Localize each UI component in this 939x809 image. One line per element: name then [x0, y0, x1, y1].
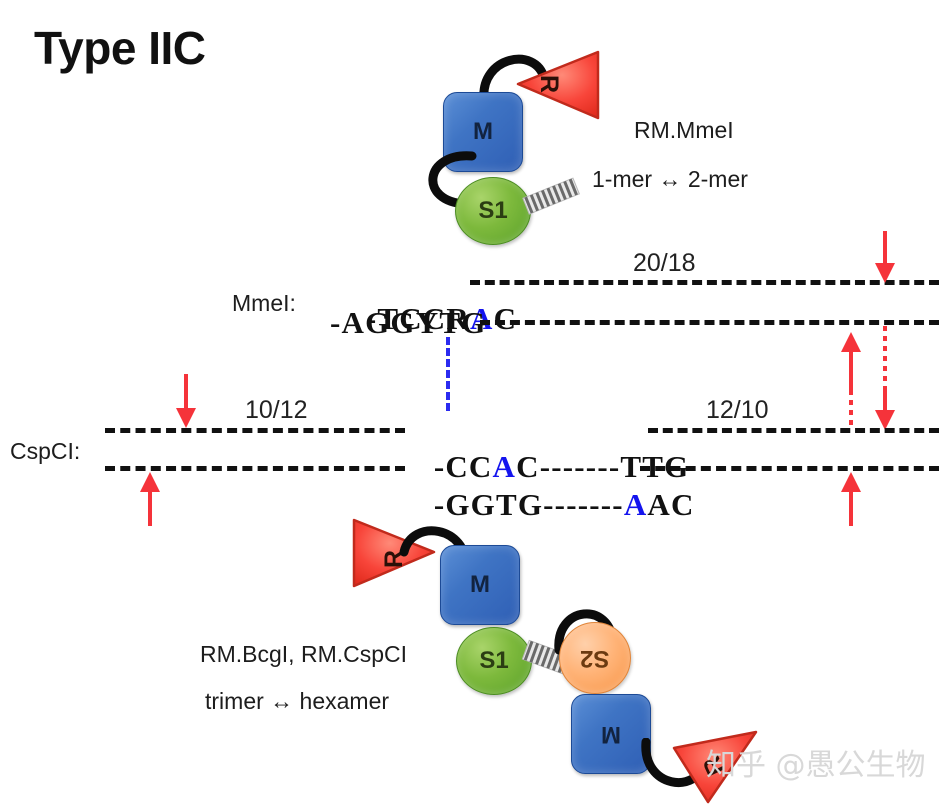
- bottom-complex-stoichiometry: trimer ↔ hexamer: [205, 688, 389, 715]
- cspci-bottom-backbone-right: [640, 466, 939, 471]
- bottom-complex-name: RM.BcgI, RM.CspCI: [200, 641, 407, 668]
- mmei-top-backbone: [470, 280, 939, 285]
- cut-arrow-cspci-left-bottom: [137, 470, 163, 526]
- mmei-bottom-strand: -AGGYTG: [330, 305, 487, 341]
- diagram-canvas: Type IIC R M S1: [0, 0, 939, 809]
- watermark: 知乎 @愚公生物: [706, 740, 926, 784]
- subunit-s1-bottom-label: S1: [479, 647, 508, 675]
- subunit-m-bottom-upper: M: [440, 545, 520, 625]
- subunit-m-bottom-lower-label: M: [601, 720, 621, 748]
- mmei-bottom-backbone: [480, 320, 939, 325]
- cspci-bottom-strand-blue-base: A: [624, 487, 648, 522]
- subunit-s2-bottom-label: S2: [580, 644, 609, 672]
- mmei-top-strand-post: C: [494, 301, 518, 336]
- subunit-m-bottom-upper-label: M: [470, 571, 490, 599]
- page-title: Type IIC: [34, 21, 206, 75]
- cspci-bottom-strand-post: AC: [647, 487, 694, 522]
- cspci-row-label: CspCI:: [10, 438, 80, 465]
- mmei-row-label: MmeI:: [232, 290, 296, 317]
- top-complex-name: RM.MmeI: [634, 117, 734, 144]
- cspci-top-backbone-right: [648, 428, 939, 433]
- linker-hatch-top: [518, 172, 582, 220]
- base-correspondence-tie: [446, 337, 450, 411]
- cut-arrow-cspci-left-top: [173, 374, 199, 430]
- top-complex-stoichiometry: 1-mer ↔ 2-mer: [592, 166, 748, 193]
- cut-arrow-mmei-top: [872, 231, 898, 285]
- subunit-m-top-label: M: [473, 118, 493, 146]
- mmei-cut-label: 20/18: [633, 249, 696, 278]
- subunit-r-top: R: [510, 44, 602, 124]
- cut-arrow-cspci-right-bottom: [838, 470, 864, 526]
- cspci-cut-label-left: 10/12: [245, 396, 308, 425]
- cut-extension-dotted-left: [838, 380, 864, 432]
- cspci-top-backbone-left: [105, 428, 405, 433]
- subunit-s2-bottom: S2: [559, 622, 631, 694]
- subunit-r-top-label: R: [516, 38, 596, 130]
- subunit-s1-top-label: S1: [478, 197, 507, 225]
- cspci-cut-label-right: 12/10: [706, 396, 769, 425]
- cut-extension-dotted-right: [872, 326, 898, 434]
